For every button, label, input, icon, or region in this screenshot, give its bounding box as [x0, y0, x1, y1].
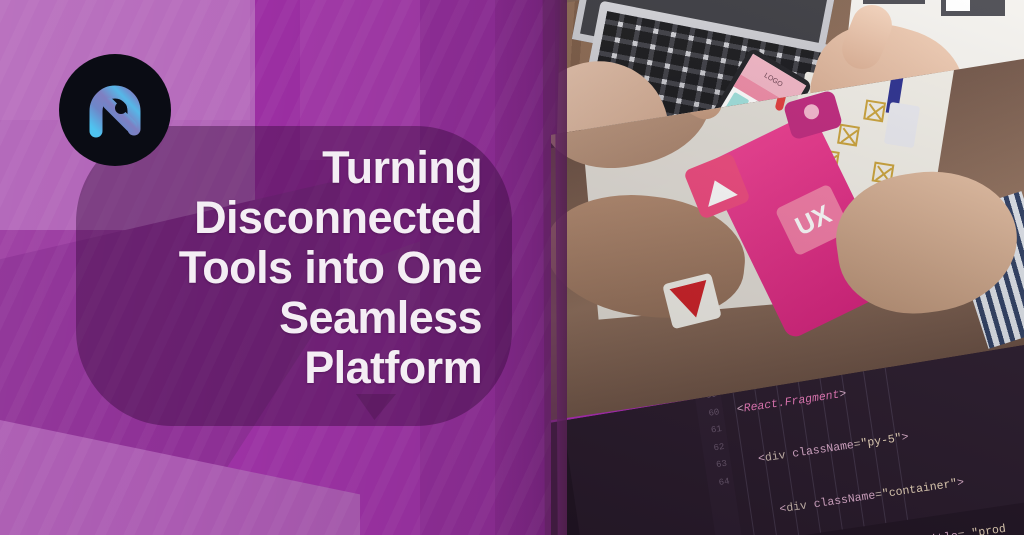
headline-line: Disconnected — [62, 193, 482, 243]
page-title: Turning Disconnected Tools into One Seam… — [62, 143, 482, 393]
promo-banner: Turning Disconnected Tools into One Seam… — [0, 0, 1024, 535]
headline-line: Seamless — [62, 293, 482, 343]
headline-line: Platform — [62, 343, 482, 393]
headline-line: Turning — [62, 143, 482, 193]
headline-line: Tools into One — [62, 243, 482, 293]
arch-mark-logo-icon — [79, 74, 151, 146]
photo-collage: LOGO — [551, 0, 1024, 535]
left-brand-panel: Turning Disconnected Tools into One Seam… — [0, 0, 560, 535]
